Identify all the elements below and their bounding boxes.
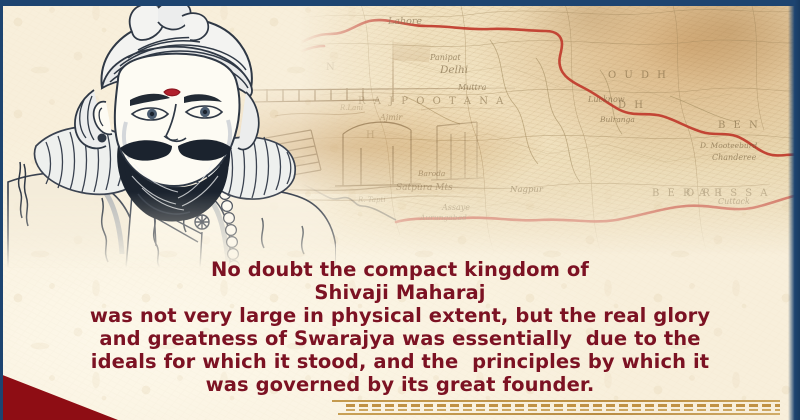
- frame-top-border: [0, 0, 800, 6]
- quote-line-4: and greatness of Swarajya was essentiall…: [18, 327, 782, 350]
- svg-text:Bulranga: Bulranga: [599, 115, 635, 124]
- quote-line-5: ideals for which it stood, and the princ…: [18, 350, 782, 373]
- gold-dashed-divider: [332, 400, 780, 416]
- divider-solid-rule: [332, 400, 780, 402]
- frame-left-border: [0, 0, 3, 420]
- svg-text:B E N: B E N: [718, 120, 760, 131]
- shivaji-maharaj-line-art-portrait: [6, 0, 336, 268]
- tilak-mark: [164, 89, 180, 96]
- quote-block: No doubt the compact kingdom of Shivaji …: [0, 258, 800, 396]
- svg-text:D H: D H: [618, 100, 645, 111]
- frame-right-border: [788, 0, 800, 420]
- quote-line-6: was governed by its great founder.: [18, 373, 782, 396]
- svg-text:Chanderee: Chanderee: [712, 153, 757, 162]
- svg-text:Lahore: Lahore: [387, 16, 422, 27]
- svg-text:D. Mooteeburd: D. Mooteeburd: [699, 141, 757, 150]
- divider-dash-row-1: [346, 404, 780, 407]
- quote-line-1: No doubt the compact kingdom of: [18, 258, 782, 281]
- divider-dash-row-2: [346, 409, 780, 411]
- quote-line-3: was not very large in physical extent, b…: [18, 304, 782, 327]
- svg-text:O R I S S A: O R I S S A: [686, 188, 770, 199]
- poster-canvas: Lahore Panipat Delhi Muttra R.Lani Ajmir…: [0, 0, 800, 420]
- divider-underline: [338, 413, 780, 415]
- quote-line-2: Shivaji Maharaj: [18, 281, 782, 304]
- svg-text:O U D H: O U D H: [608, 70, 668, 81]
